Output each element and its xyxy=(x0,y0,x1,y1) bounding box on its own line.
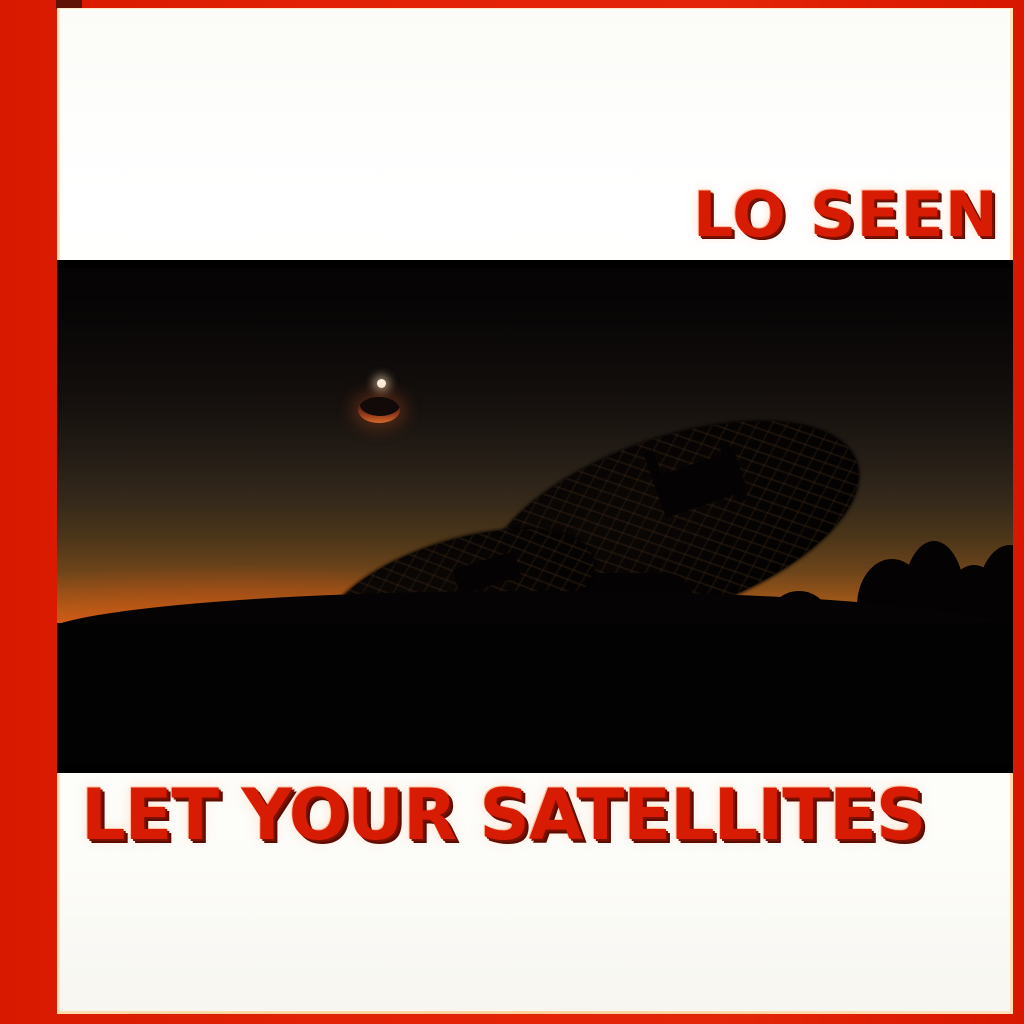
release-title: LET YOUR SATELLITES xyxy=(81,780,925,850)
cover-photo-image xyxy=(57,268,1013,765)
crescent-moon-icon xyxy=(358,397,400,423)
panel-edge-bottom xyxy=(57,1011,1013,1014)
artist-title: LO SEEN xyxy=(693,184,999,246)
cover-panel: LO SEEN xyxy=(57,8,1013,1014)
album-cover: LO SEEN xyxy=(0,0,1024,1024)
evening-star-icon xyxy=(377,379,386,388)
cover-photo xyxy=(57,260,1013,773)
foreground-silhouette xyxy=(57,623,1013,765)
